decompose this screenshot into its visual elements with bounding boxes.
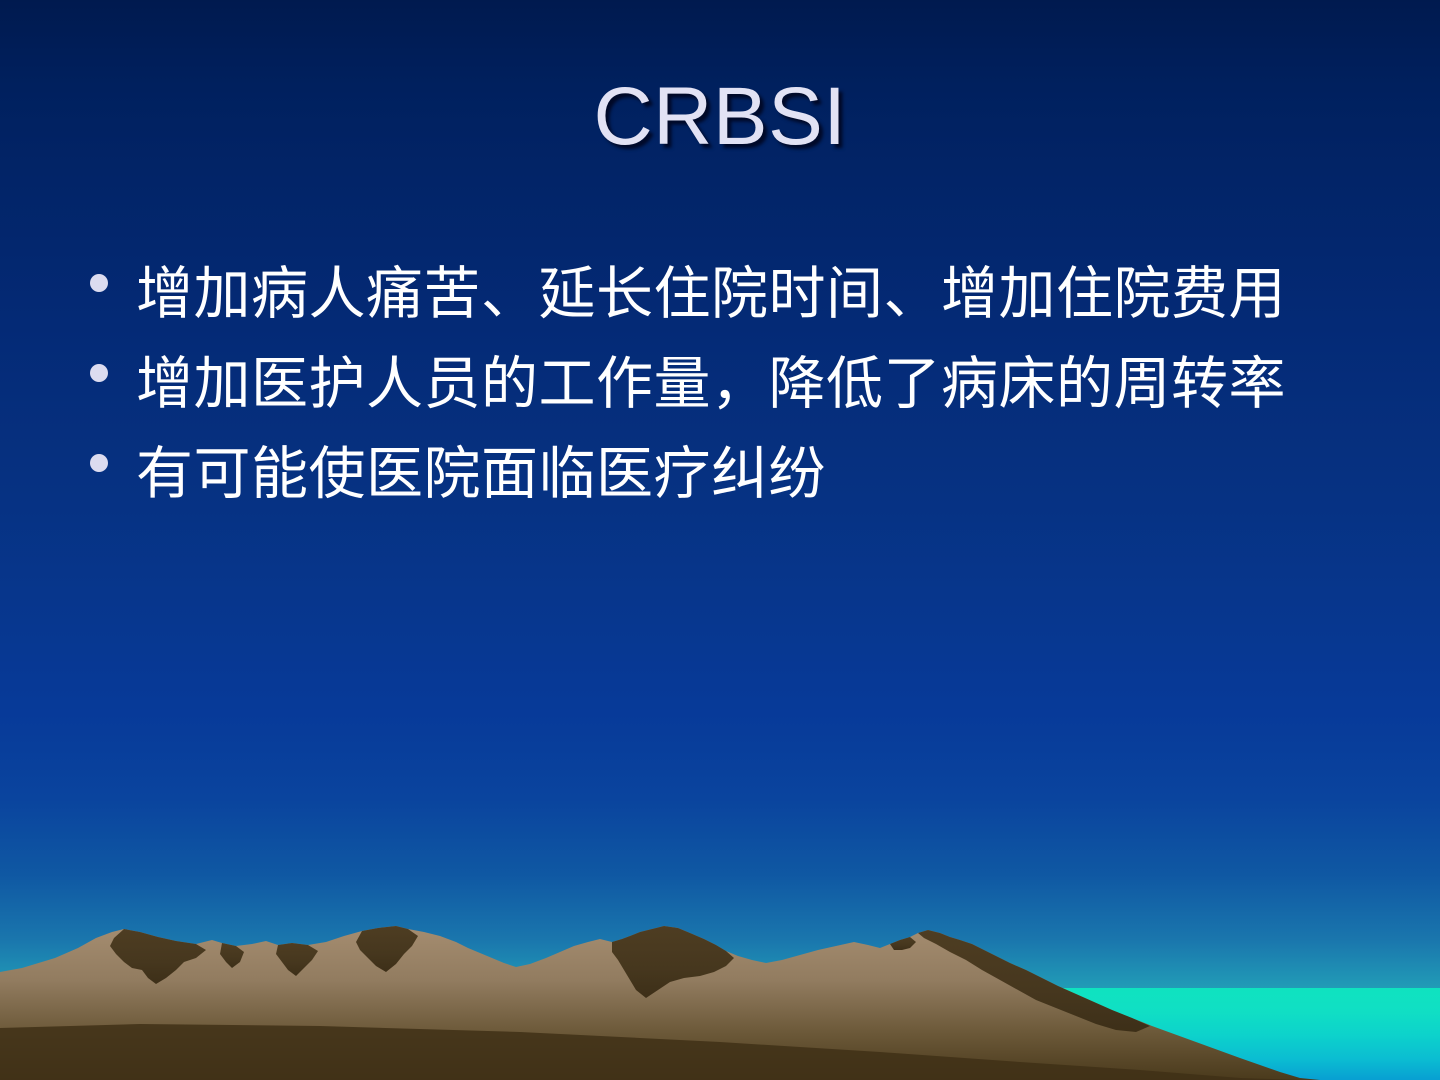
bullet-item-text: 有可能使医院面临医疗纠纷 bbox=[136, 432, 1378, 516]
presentation-slide: CRBSI 增加病人痛苦、延长住院时间、增加住院费用 增加医护人员的工作量，降低… bbox=[0, 0, 1440, 1080]
bullet-dot-icon bbox=[90, 364, 108, 382]
list-item: 增加医护人员的工作量，降低了病床的周转率 bbox=[78, 342, 1378, 426]
bullet-dot-icon bbox=[90, 274, 108, 292]
mountain-range-graphic bbox=[0, 920, 1440, 1080]
list-item: 有可能使医院面临医疗纠纷 bbox=[78, 432, 1378, 516]
bullet-list: 增加病人痛苦、延长住院时间、增加住院费用 增加医护人员的工作量，降低了病床的周转… bbox=[78, 252, 1378, 522]
list-item: 增加病人痛苦、延长住院时间、增加住院费用 bbox=[78, 252, 1378, 336]
bullet-item-text: 增加医护人员的工作量，降低了病床的周转率 bbox=[136, 342, 1378, 426]
slide-title: CRBSI bbox=[0, 76, 1440, 158]
bullet-item-text: 增加病人痛苦、延长住院时间、增加住院费用 bbox=[136, 252, 1378, 336]
bullet-dot-icon bbox=[90, 454, 108, 472]
